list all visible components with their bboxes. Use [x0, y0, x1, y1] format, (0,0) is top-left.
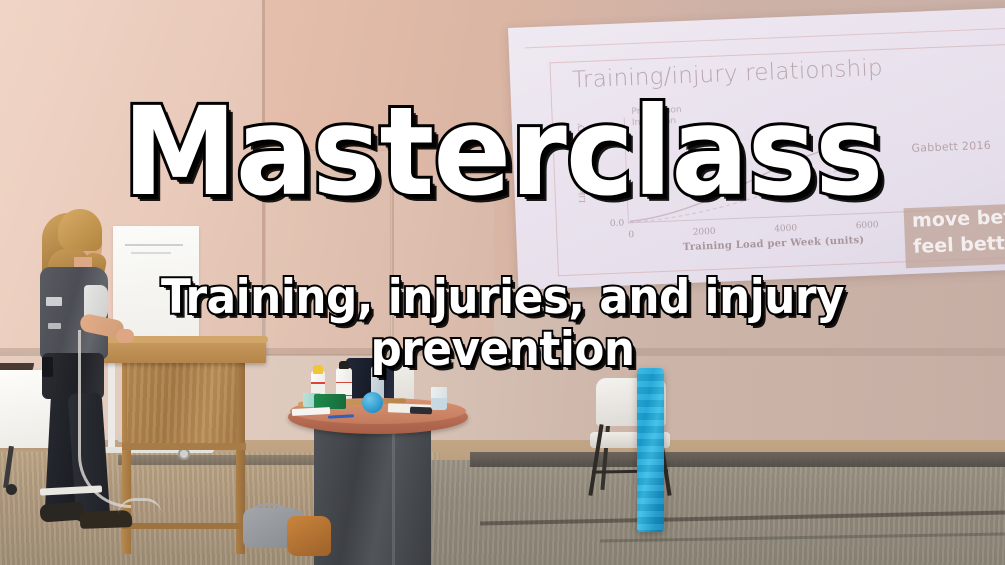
projection-screen: Training/injury relationship Gabbett 201…: [508, 8, 1005, 290]
glass-water-level: [431, 398, 447, 410]
foam-roller-texture: [637, 368, 664, 532]
presenter-shirt-logo-2: [48, 323, 61, 329]
chart-y-tick-0: 0.0: [610, 218, 625, 229]
clear-bottle-cap: [373, 360, 382, 367]
chart-x-tick-3: 6000: [856, 220, 879, 231]
round-table-base: [314, 420, 431, 565]
chart-curve-inseason: [628, 161, 878, 222]
chart-x-tick-2: 4000: [774, 224, 797, 235]
floor-cable: [78, 330, 131, 508]
wall-seam-right: [392, 180, 394, 356]
side-table-caster: [6, 484, 17, 495]
yellow-bottle-cap: [313, 365, 323, 374]
white-bottle-cap: [339, 361, 349, 369]
presenter-shoe-back: [39, 501, 84, 522]
lectern-wood-grain: [127, 362, 237, 447]
baseboard-left: [118, 455, 318, 465]
presenter-hair-front: [58, 209, 102, 251]
presenter-belt-pack: [42, 357, 53, 377]
brown-bag: [287, 516, 331, 556]
brand-watermark: move better feel better: [904, 203, 1005, 269]
blue-massage-ball: [362, 392, 383, 413]
wall-door-panel-left: [265, 150, 391, 355]
presenter-shirt-logo: [46, 297, 62, 306]
chart-curves: [625, 131, 928, 223]
chart-curve-preseason: [627, 137, 878, 221]
video-thumbnail: Training/injury relationship Gabbett 201…: [0, 0, 1005, 565]
wall-seam-left: [262, 0, 265, 356]
chart-legend: Pre-Season In-Season: [631, 105, 682, 129]
chart-legend-item-1: In-Season: [632, 116, 683, 129]
chart-x-tick-1: 2000: [693, 227, 716, 238]
chart-x-tick-0: 0: [628, 230, 634, 240]
phone-on-table: [410, 407, 432, 415]
slide-rule-top: [525, 28, 1005, 48]
projected-slide: Training/injury relationship Gabbett 201…: [508, 8, 1005, 290]
baseboard-right: [470, 452, 1005, 467]
watermark-line-2: feel better: [905, 229, 1005, 261]
round-table-base-edge: [392, 420, 395, 565]
floor-cable-loop: [118, 498, 162, 515]
wall-door-panel-right: [394, 175, 494, 355]
watermark-line-1: move better: [904, 203, 1005, 235]
